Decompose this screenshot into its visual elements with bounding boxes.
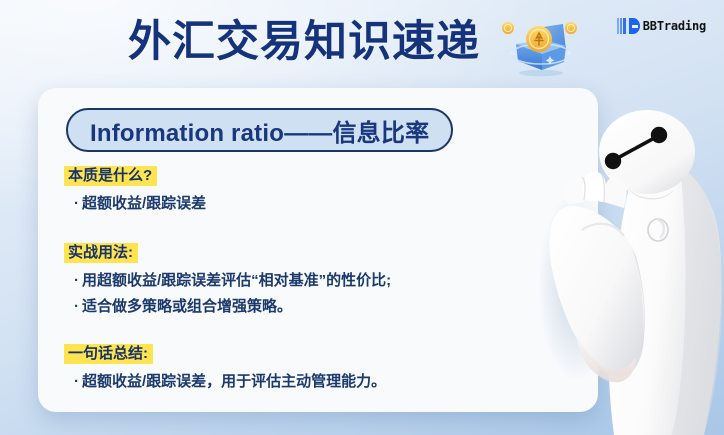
poster-canvas: 外汇交易知识速递 [0, 0, 724, 435]
list-item-text: 用超额收益/跟踪误差评估“相对基准”的性价比; [82, 272, 391, 289]
brand-logo[interactable]: BBTrading [617, 17, 706, 35]
page-title: 外汇交易知识速递 [128, 16, 480, 68]
bb-bars-logo-icon [617, 18, 626, 34]
content-card: Information ratio——信息比率 本质是什么? ·超额收益/跟踪误… [38, 88, 598, 412]
section-label: 本质是什么? [64, 166, 157, 186]
gift-box-coins-icon [500, 16, 578, 78]
bullet-dot: · [74, 373, 79, 390]
bullet-dot: · [74, 195, 79, 212]
list-item: ·用超额收益/跟踪误差评估“相对基准”的性价比; [64, 268, 578, 294]
card-title-pill: Information ratio——信息比率 [66, 108, 453, 152]
bullet-dot: · [74, 272, 79, 289]
list-item: ·适合做多策略或组合增强策略。 [64, 294, 578, 320]
list-item-text: 超额收益/跟踪误差 [82, 195, 206, 212]
section-label: 实战用法: [64, 243, 138, 263]
section-summary: 一句话总结: ·超额收益/跟踪误差，用于评估主动管理能力。 [64, 344, 578, 395]
card-body: 本质是什么? ·超额收益/跟踪误差 实战用法: ·用超额收益/跟踪误差评估“相对… [64, 166, 578, 395]
section-practical-use: 实战用法: ·用超额收益/跟踪误差评估“相对基准”的性价比; ·适合做多策略或组… [64, 243, 578, 320]
section-essence: 本质是什么? ·超额收益/跟踪误差 [64, 166, 578, 217]
brand-name: BBTrading [643, 19, 706, 33]
bullet-dot: · [74, 298, 79, 315]
list-item-text: 超额收益/跟踪误差，用于评估主动管理能力。 [82, 373, 386, 390]
brand-b-glyph [629, 18, 640, 34]
poster-header: 外汇交易知识速递 [0, 0, 724, 88]
list-item: ·超额收益/跟踪误差，用于评估主动管理能力。 [64, 369, 578, 395]
card-title-text: Information ratio——信息比率 [90, 113, 429, 148]
list-item: ·超额收益/跟踪误差 [64, 191, 578, 217]
section-label: 一句话总结: [64, 344, 153, 364]
list-item-text: 适合做多策略或组合增强策略。 [82, 298, 292, 315]
